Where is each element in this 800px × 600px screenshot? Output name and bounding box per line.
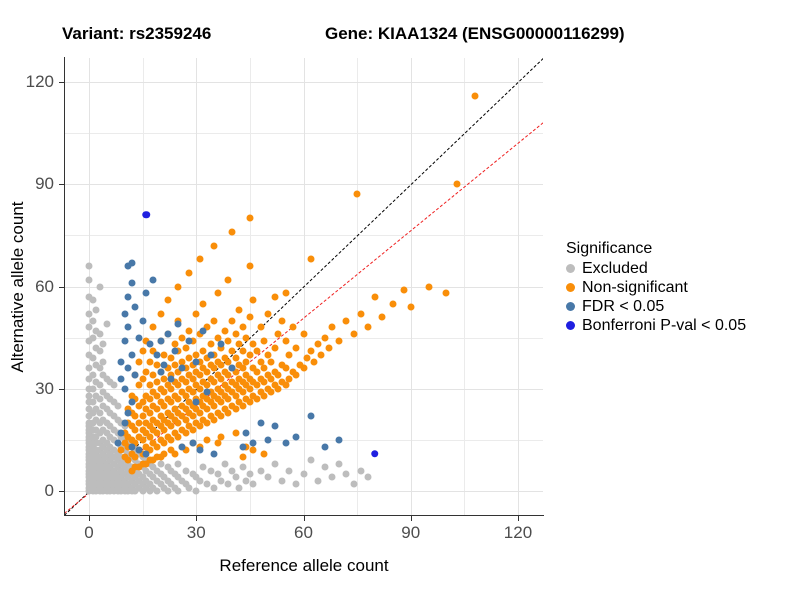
data-point (211, 317, 218, 324)
data-point (211, 450, 218, 457)
data-point (200, 464, 207, 471)
data-point (268, 389, 275, 396)
data-point (196, 256, 203, 263)
data-point (229, 317, 236, 324)
data-point (203, 481, 210, 488)
x-tick-label: 60 (294, 523, 313, 543)
data-point (261, 338, 268, 345)
data-point (211, 242, 218, 249)
data-point (186, 327, 193, 334)
plot-area (64, 58, 543, 515)
data-point (321, 334, 328, 341)
x-tick (304, 516, 305, 521)
data-point (218, 413, 225, 420)
data-point (275, 385, 282, 392)
data-point (164, 297, 171, 304)
data-point (128, 259, 135, 266)
data-point (300, 331, 307, 338)
legend: Significance ExcludedNon-significantFDR … (566, 240, 746, 335)
data-point (293, 344, 300, 351)
data-point (182, 344, 189, 351)
data-point (164, 488, 171, 495)
data-point (350, 331, 357, 338)
data-point (128, 467, 135, 474)
y-tick-label: 0 (45, 481, 54, 501)
legend-item-label: FDR < 0.05 (582, 297, 664, 316)
data-point (336, 338, 343, 345)
data-point (246, 351, 253, 358)
data-point (300, 365, 307, 372)
x-tick-label: 30 (187, 523, 206, 543)
data-point (128, 280, 135, 287)
data-point (186, 484, 193, 491)
data-point (282, 290, 289, 297)
data-point (371, 450, 379, 458)
gridline-horizontal (64, 184, 543, 185)
data-point (186, 269, 193, 276)
data-point (279, 317, 286, 324)
data-point (125, 365, 132, 372)
data-point (96, 283, 103, 290)
data-point (289, 324, 296, 331)
data-point (178, 443, 185, 450)
data-point (86, 324, 93, 331)
data-point (343, 471, 350, 478)
data-point (246, 215, 253, 222)
data-point (139, 317, 146, 324)
data-point (221, 460, 228, 467)
data-point (157, 454, 164, 461)
data-point (136, 382, 143, 389)
x-tick (89, 516, 90, 521)
data-point (443, 290, 450, 297)
data-point (121, 385, 128, 392)
data-point (239, 348, 246, 355)
data-point (114, 440, 121, 447)
data-point (279, 477, 286, 484)
data-point (132, 372, 139, 379)
legend-item-1[interactable]: Non-significant (566, 278, 746, 297)
data-point (379, 314, 386, 321)
data-point (193, 358, 200, 365)
data-point (232, 406, 239, 413)
data-point (246, 471, 253, 478)
data-point (236, 307, 243, 314)
data-point (86, 276, 93, 283)
data-point (454, 181, 461, 188)
data-point (218, 341, 225, 348)
data-point (211, 416, 218, 423)
data-point (229, 365, 236, 372)
data-point (350, 481, 357, 488)
data-point (121, 338, 128, 345)
data-point (178, 365, 185, 372)
legend-item-3[interactable]: Bonferroni P-val < 0.05 (566, 316, 746, 335)
data-point (200, 300, 207, 307)
data-point (239, 324, 246, 331)
data-point (142, 211, 150, 219)
data-point (371, 293, 378, 300)
legend-key-icon (566, 302, 575, 311)
data-point (243, 358, 250, 365)
data-point (196, 423, 203, 430)
data-point (243, 477, 250, 484)
data-point (153, 488, 160, 495)
legend-key-icon (566, 321, 575, 330)
data-point (250, 447, 257, 454)
x-tick (411, 516, 412, 521)
data-point (225, 481, 232, 488)
legend-item-label: Bonferroni P-val < 0.05 (582, 316, 746, 335)
data-point (214, 440, 221, 447)
data-point (307, 457, 314, 464)
gene-title: Gene: KIAA1324 (ENSG00000116299) (325, 24, 625, 44)
data-point (189, 426, 196, 433)
data-point (168, 375, 175, 382)
data-point (336, 460, 343, 467)
data-point (86, 263, 93, 270)
data-point (203, 436, 210, 443)
legend-items: ExcludedNon-significantFDR < 0.05Bonferr… (566, 259, 746, 335)
data-point (286, 375, 293, 382)
data-point (293, 481, 300, 488)
data-point (268, 358, 275, 365)
data-point (246, 314, 253, 321)
y-tick-label: 60 (35, 277, 54, 297)
legend-key-icon (566, 283, 575, 292)
data-point (239, 443, 246, 450)
data-point (132, 303, 139, 310)
data-point (139, 375, 146, 382)
data-point (239, 402, 246, 409)
data-point (389, 300, 396, 307)
data-point (472, 92, 479, 99)
data-point (89, 334, 96, 341)
data-point (150, 324, 157, 331)
data-point (364, 474, 371, 481)
data-point (282, 382, 289, 389)
data-point (136, 334, 143, 341)
data-point (264, 310, 271, 317)
data-point (189, 440, 196, 447)
data-point (175, 460, 182, 467)
data-point (153, 443, 160, 450)
data-point (175, 433, 182, 440)
data-point (321, 464, 328, 471)
data-point (111, 382, 118, 389)
data-point (300, 471, 307, 478)
x-axis-title: Reference allele count (219, 556, 388, 576)
data-point (118, 358, 125, 365)
y-tick (59, 184, 64, 185)
data-point (225, 409, 232, 416)
data-point (146, 358, 153, 365)
data-point (171, 348, 178, 355)
data-point (157, 310, 164, 317)
data-point (243, 334, 250, 341)
data-point (354, 191, 361, 198)
data-point (257, 324, 264, 331)
data-point (225, 276, 232, 283)
data-point (307, 413, 314, 420)
data-point (143, 460, 150, 467)
data-point (293, 433, 300, 440)
data-point (157, 460, 164, 467)
data-point (293, 372, 300, 379)
data-point (178, 334, 185, 341)
data-point (314, 477, 321, 484)
data-point (229, 228, 236, 235)
data-point (286, 351, 293, 358)
data-point (257, 419, 264, 426)
data-point (193, 488, 200, 495)
data-point (236, 484, 243, 491)
data-point (314, 341, 321, 348)
y-axis-line (64, 57, 65, 516)
data-point (207, 467, 214, 474)
data-point (196, 447, 203, 454)
data-point (89, 317, 96, 324)
data-point (364, 324, 371, 331)
data-point (218, 433, 225, 440)
data-point (203, 389, 210, 396)
data-point (271, 344, 278, 351)
data-point (207, 351, 214, 358)
data-point (318, 351, 325, 358)
data-point (232, 331, 239, 338)
data-point (186, 338, 193, 345)
y-tick-label: 120 (26, 72, 54, 92)
x-tick-label: 0 (84, 523, 93, 543)
data-point (175, 283, 182, 290)
gridline-horizontal (64, 82, 543, 83)
data-point (271, 460, 278, 467)
data-point (311, 358, 318, 365)
data-point (175, 321, 182, 328)
data-point (246, 263, 253, 270)
data-point (221, 327, 228, 334)
data-point (89, 297, 96, 304)
data-point (200, 327, 207, 334)
data-point (282, 365, 289, 372)
x-tick (196, 516, 197, 521)
data-point (307, 256, 314, 263)
data-point (218, 477, 225, 484)
legend-key-icon (566, 264, 575, 273)
data-point (136, 464, 143, 471)
data-point (121, 310, 128, 317)
legend-item-2[interactable]: FDR < 0.05 (566, 297, 746, 316)
data-point (128, 351, 135, 358)
data-point (275, 331, 282, 338)
data-point (125, 409, 132, 416)
data-point (425, 283, 432, 290)
data-point (168, 436, 175, 443)
data-point (239, 464, 246, 471)
data-point (193, 399, 200, 406)
data-point (254, 396, 261, 403)
data-point (128, 443, 135, 450)
legend-item-label: Non-significant (582, 278, 688, 297)
data-point (214, 290, 221, 297)
data-point (250, 297, 257, 304)
data-point (307, 348, 314, 355)
data-point (153, 351, 160, 358)
legend-title: Significance (566, 240, 746, 258)
x-tick-label: 90 (401, 523, 420, 543)
data-point (282, 338, 289, 345)
data-point (357, 467, 364, 474)
data-point (304, 355, 311, 362)
data-point (264, 436, 271, 443)
y-tick (59, 389, 64, 390)
data-point (146, 341, 153, 348)
data-point (250, 481, 257, 488)
data-point (136, 447, 143, 454)
data-point (139, 348, 146, 355)
data-point (150, 457, 157, 464)
data-point (203, 419, 210, 426)
data-point (239, 454, 246, 461)
data-point (243, 430, 250, 437)
data-point (325, 344, 332, 351)
data-point (161, 440, 168, 447)
data-point (282, 440, 289, 447)
data-point (329, 474, 336, 481)
data-point (261, 450, 268, 457)
data-point (96, 331, 103, 338)
data-point (264, 474, 271, 481)
y-tick-label: 90 (35, 174, 54, 194)
data-point (182, 467, 189, 474)
data-point (118, 430, 125, 437)
data-point (164, 331, 171, 338)
data-point (246, 399, 253, 406)
data-point (196, 477, 203, 484)
data-point (150, 276, 157, 283)
data-point (143, 368, 150, 375)
chart-root: Variant: rs2359246 Gene: KIAA1324 (ENSG0… (0, 0, 800, 600)
data-point (286, 467, 293, 474)
y-tick (59, 82, 64, 83)
data-point (175, 488, 182, 495)
data-point (211, 484, 218, 491)
data-point (157, 338, 164, 345)
gridline-horizontal (64, 389, 543, 390)
y-tick (59, 287, 64, 288)
data-point (161, 351, 168, 358)
y-tick (59, 491, 64, 492)
data-point (157, 368, 164, 375)
data-point (121, 419, 128, 426)
data-point (336, 436, 343, 443)
data-point (125, 457, 132, 464)
data-point (271, 423, 278, 430)
data-point (161, 361, 168, 368)
data-point (250, 440, 257, 447)
data-point (93, 307, 100, 314)
data-point (100, 341, 107, 348)
data-point (125, 293, 132, 300)
data-point (271, 293, 278, 300)
legend-item-0[interactable]: Excluded (566, 259, 746, 278)
data-point (103, 321, 110, 328)
x-tick-label: 120 (504, 523, 532, 543)
data-point (400, 286, 407, 293)
variant-title: Variant: rs2359246 (62, 24, 211, 44)
data-point (128, 399, 135, 406)
data-point (143, 290, 150, 297)
legend-item-label: Excluded (582, 259, 648, 278)
y-tick-label: 30 (35, 379, 54, 399)
data-point (100, 358, 107, 365)
data-point (96, 348, 103, 355)
data-point (132, 454, 139, 461)
data-point (193, 310, 200, 317)
data-point (357, 310, 364, 317)
data-point (225, 338, 232, 345)
data-point (329, 324, 336, 331)
y-axis-title: Alternative allele count (8, 201, 28, 372)
data-point (254, 348, 261, 355)
data-point (118, 375, 125, 382)
data-point (136, 358, 143, 365)
data-point (125, 324, 132, 331)
x-tick (518, 516, 519, 521)
data-point (321, 443, 328, 450)
data-point (207, 341, 214, 348)
data-point (407, 303, 414, 310)
data-point (232, 430, 239, 437)
data-point (257, 467, 264, 474)
data-point (143, 450, 150, 457)
data-point (232, 474, 239, 481)
data-point (171, 450, 178, 457)
data-point (182, 430, 189, 437)
data-point (261, 392, 268, 399)
data-point (114, 402, 121, 409)
data-point (343, 317, 350, 324)
